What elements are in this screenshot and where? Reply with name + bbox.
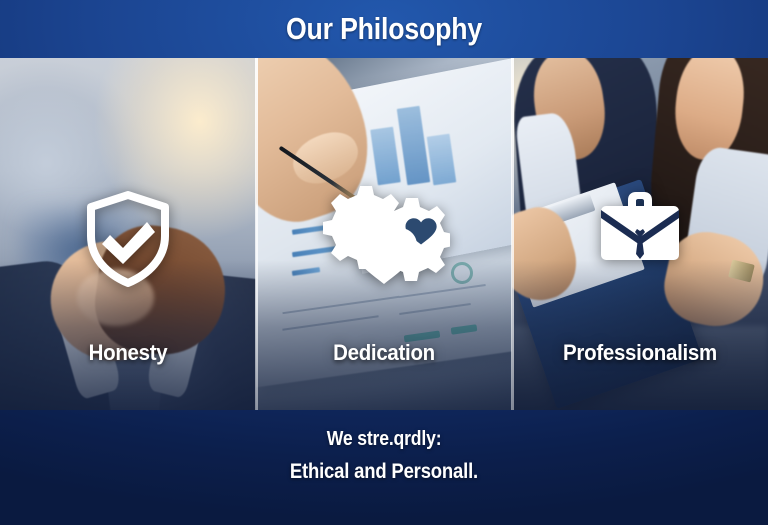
- footer-tagline: We stre.qrdly: Ethical and Personall.: [0, 410, 768, 525]
- footer-line-2: Ethical and Personall.: [290, 460, 478, 484]
- briefcase-tie-icon: [597, 188, 683, 264]
- panel-professionalism[interactable]: Professionalism: [512, 58, 768, 410]
- panel-divider-1: [255, 58, 258, 410]
- panel-dedication[interactable]: Dedication: [256, 58, 512, 410]
- footer-line-1: We stre.qrdly:: [327, 428, 442, 451]
- panel-label-honesty: Honesty: [9, 340, 247, 366]
- page-title: Our Philosophy: [286, 11, 482, 47]
- panel-honesty[interactable]: Honesty: [0, 58, 256, 410]
- philosophy-slide: Our Philosophy Honesty: [0, 0, 768, 525]
- gears-hearts-icon: [318, 180, 450, 288]
- panel-label-dedication: Dedication: [265, 340, 503, 366]
- shield-check-icon: [85, 190, 171, 288]
- header-bar: Our Philosophy: [0, 0, 768, 58]
- panel-label-professionalism: Professionalism: [521, 340, 759, 366]
- panel-divider-2: [511, 58, 514, 410]
- panel-row: Honesty: [0, 58, 768, 410]
